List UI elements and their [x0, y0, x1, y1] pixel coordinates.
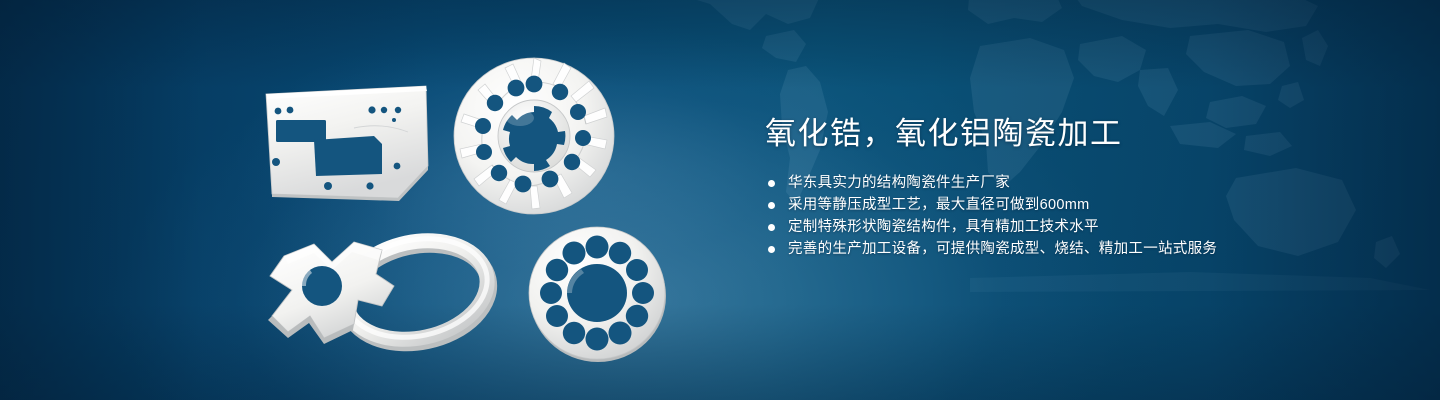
- list-item: 完善的生产加工设备，可提供陶瓷成型、烧结、精加工一站式服务: [768, 238, 1217, 260]
- bullet-dot-icon: [768, 202, 775, 209]
- bullet-dot-icon: [768, 224, 775, 231]
- list-item: 采用等静压成型工艺，最大直径可做到600mm: [768, 194, 1217, 216]
- feature-text: 采用等静压成型工艺，最大直径可做到600mm: [788, 194, 1089, 216]
- ceramic-impeller-disc-image: [448, 48, 620, 218]
- ceramic-cross-plate-ring-image: [258, 228, 508, 358]
- list-item: 定制特殊形状陶瓷结构件，具有精加工技术水平: [768, 216, 1217, 238]
- bullet-dot-icon: [768, 246, 775, 253]
- hero-banner: 氧化锆，氧化铝陶瓷加工 华东具实力的结构陶瓷件生产厂家 采用等静压成型工艺，最大…: [0, 0, 1440, 400]
- feature-text: 华东具实力的结构陶瓷件生产厂家: [788, 172, 1010, 194]
- bullet-dot-icon: [768, 180, 775, 187]
- ceramic-perforated-ring-image: [524, 224, 672, 366]
- page-title: 氧化锆，氧化铝陶瓷加工: [765, 114, 1123, 154]
- feature-text: 定制特殊形状陶瓷结构件，具有精加工技术水平: [788, 216, 1099, 238]
- ceramic-flat-plate-image: [258, 82, 434, 202]
- list-item: 华东具实力的结构陶瓷件生产厂家: [768, 172, 1217, 194]
- feature-list: 华东具实力的结构陶瓷件生产厂家 采用等静压成型工艺，最大直径可做到600mm 定…: [768, 172, 1217, 260]
- product-image-group: [0, 0, 700, 400]
- feature-text: 完善的生产加工设备，可提供陶瓷成型、烧结、精加工一站式服务: [788, 238, 1217, 260]
- banner-text-block: 氧化锆，氧化铝陶瓷加工 华东具实力的结构陶瓷件生产厂家 采用等静压成型工艺，最大…: [765, 0, 1385, 400]
